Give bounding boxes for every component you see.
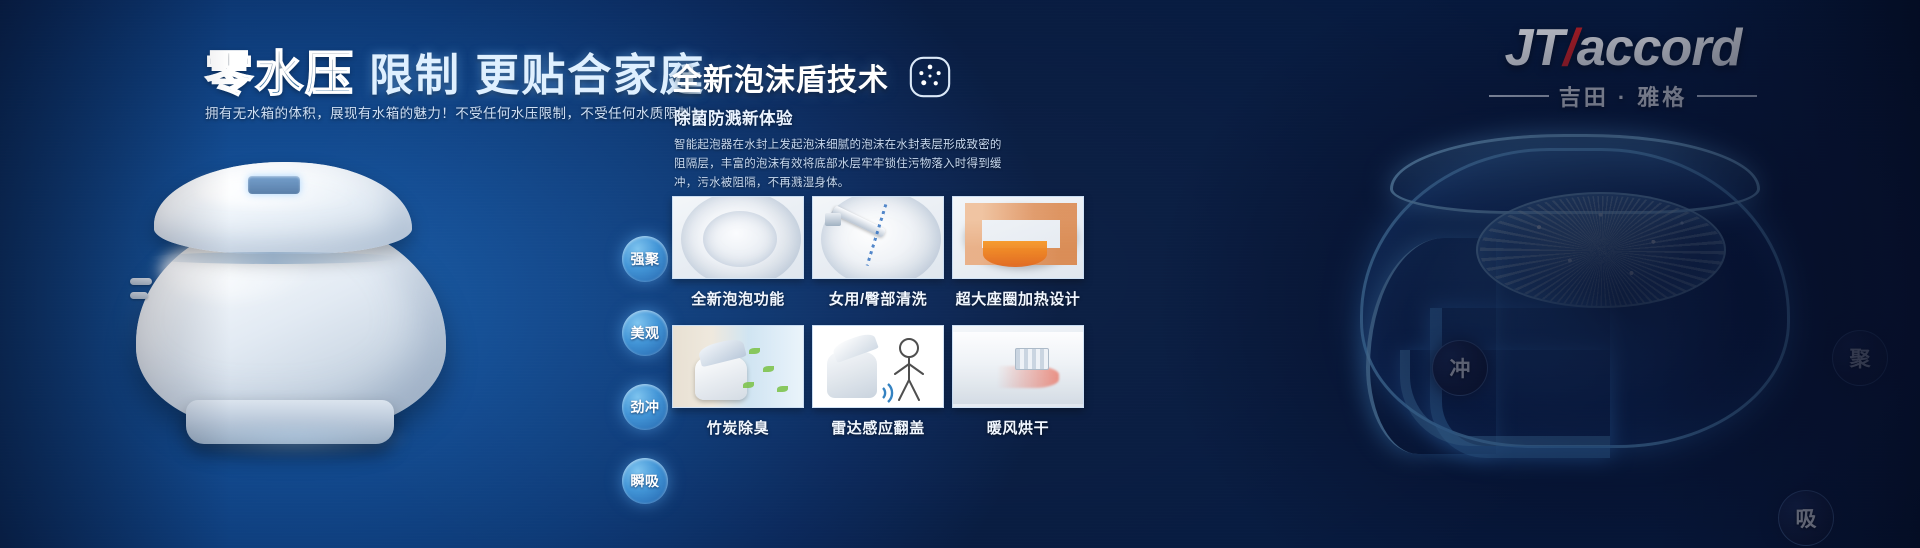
center-title: 全新泡沫盾技术 [672,55,889,99]
feature-cell-heated-seat[interactable]: 超大座圈加热设计 [952,196,1084,309]
headline-subtitle: 拥有无水箱的体积，展现有水箱的魅力！不受任何水压限制，不受任何水质限制！ [205,102,635,122]
logo-rule-left [1489,95,1549,97]
right-panel: JT/accord 吉田 · 雅格 冲 聚 吸 [1250,0,1920,548]
smart-toilet-product-photo [90,128,490,458]
toilet-button [130,292,148,299]
feature-grid-row: 竹炭除臭 雷达感应翻盖 [672,325,1084,438]
left-panel: 零水压限制 更贴合家庭 拥有无水箱的体积，展现有水箱的魅力！不受任何水压限制，不… [0,0,660,548]
page-title: 零水压限制 更贴合家庭 [205,34,705,104]
feature-cell-radar[interactable]: 雷达感应翻盖 [812,325,944,438]
xray-cutaway-illustration: 冲 聚 吸 [1280,118,1880,538]
control-panel-display [248,176,300,194]
feature-cell-label: 超大座圈加热设计 [952,288,1084,309]
center-description: 智能起泡器在水封上发起泡沫细腻的泡沫在水封表层形成致密的阻隔层，丰富的泡沫有效将… [674,136,1004,193]
brand-logo: JT/accord 吉田 · 雅格 [1458,22,1788,112]
feature-cell-wash[interactable]: 女用/臀部清洗 [812,196,944,309]
feature-cell-label: 全新泡泡功能 [672,288,804,309]
xray-water-sparkle [1495,196,1715,300]
logo-rule-right [1697,95,1757,97]
brand-logo-chinese: 吉田 · 雅格 [1559,80,1688,112]
feature-cell-label: 女用/臀部清洗 [812,288,944,309]
xray-badge-chong[interactable]: 冲 [1432,340,1488,396]
center-title-row: 全新泡沫盾技术 [672,54,953,100]
feature-badge-meiguan[interactable]: 美观 [622,310,668,356]
feature-grid-row: 全新泡泡功能 女用/臀部清洗 超大座圈加热设计 [672,196,1084,309]
brand-logo-wordmark: JT/accord [1458,22,1788,74]
xray-badge-ju[interactable]: 聚 [1832,330,1888,386]
warm-air-dryer-thumb [952,325,1084,408]
radar-sensor-thumb [812,325,944,408]
xray-badge-xi[interactable]: 吸 [1778,490,1834,546]
feature-badge-jingchong[interactable]: 劲冲 [622,384,668,430]
product-reflection [130,424,460,484]
toilet-seam [148,252,398,264]
brand-logo-accord: accord [1577,19,1742,77]
feature-cell-deodorize[interactable]: 竹炭除臭 [672,325,804,438]
headline-rest: 限制 更贴合家庭 [369,51,705,100]
foam-shield-icon [907,54,953,100]
feature-badge-qiangju[interactable]: 强聚 [622,236,668,282]
headline-strong: 零水压 [205,48,369,101]
feature-cell-label: 雷达感应翻盖 [812,417,944,438]
center-panel: 全新泡沫盾技术 除菌防溅新体验 智能起泡器在水封上发起泡沫细腻的泡沫在水封表层形… [672,0,1242,548]
heated-seat-ring-thumb [952,196,1084,279]
feature-cell-dryer[interactable]: 暖风烘干 [952,325,1084,438]
bamboo-charcoal-thumb [672,325,804,408]
brand-logo-subline: 吉田 · 雅格 [1458,80,1788,112]
product-banner: 零水压限制 更贴合家庭 拥有无水箱的体积，展现有水箱的魅力！不受任何水压限制，不… [0,0,1920,548]
feature-badge-shunxi[interactable]: 瞬吸 [622,458,668,504]
toilet-button [130,278,152,285]
brand-logo-swoosh: / [1563,19,1576,77]
center-subtitle: 除菌防溅新体验 [674,105,793,129]
foam-bowl-thumb [672,196,804,279]
feature-cell-label: 暖风烘干 [952,417,1084,438]
brand-logo-jt: JT [1505,19,1564,77]
feature-cell-label: 竹炭除臭 [672,417,804,438]
nozzle-spray-thumb [812,196,944,279]
feature-grid: 全新泡泡功能 女用/臀部清洗 超大座圈加热设计 [672,196,1084,438]
feature-cell-foam[interactable]: 全新泡泡功能 [672,196,804,309]
